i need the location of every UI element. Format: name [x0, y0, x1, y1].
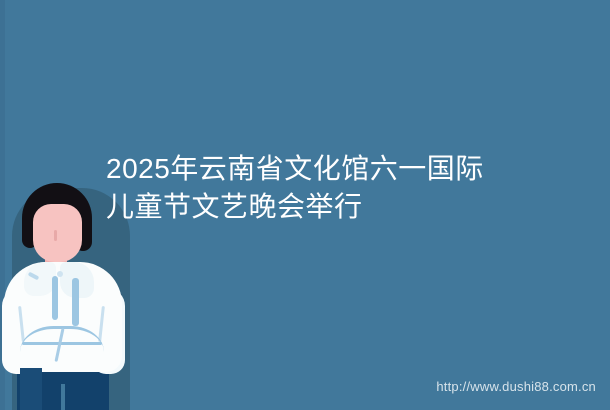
pants-highlight — [20, 368, 42, 410]
drawstring-left — [52, 276, 58, 320]
pants-leg-gap — [61, 384, 65, 410]
face-shape — [33, 204, 82, 262]
headline-line-1: 2025年云南省文化馆六一国际 — [106, 150, 576, 188]
banner-image: 2025年云南省文化馆六一国际 儿童节文艺晚会举行 http://www.dus… — [0, 0, 610, 410]
nose-shape — [54, 230, 57, 241]
watermark-url: http://www.dushi88.com.cn — [436, 379, 596, 394]
headline-line-2: 儿童节文艺晚会举行 — [106, 188, 576, 226]
collar-eyelet — [57, 271, 63, 277]
headline: 2025年云南省文化馆六一国际 儿童节文艺晚会举行 — [106, 150, 576, 226]
hoodie-pocket-line — [22, 342, 102, 345]
drawstring-right — [72, 278, 79, 326]
